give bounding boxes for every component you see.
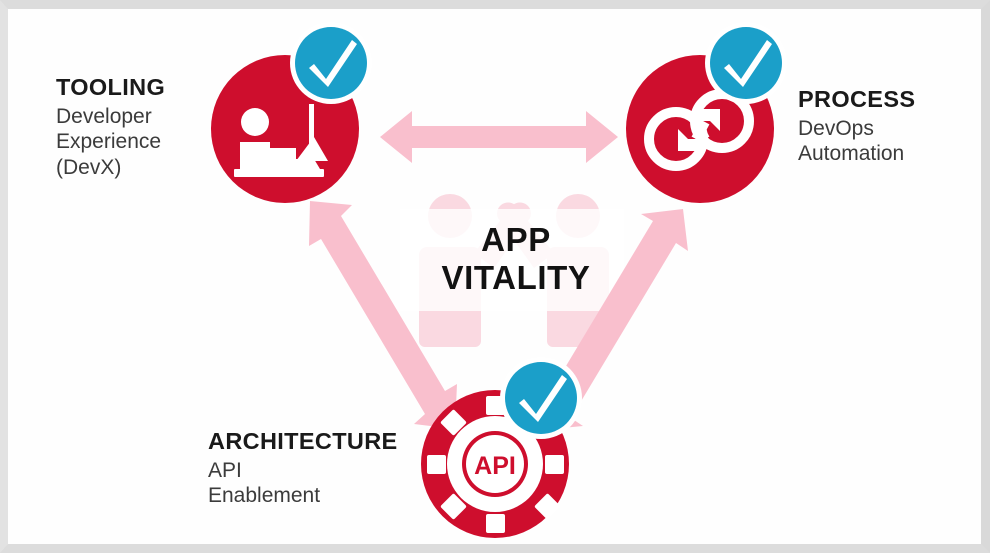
label-tooling-sub-2: Experience bbox=[56, 129, 165, 155]
node-tooling[interactable] bbox=[211, 22, 372, 203]
api-gear-label: API bbox=[474, 452, 516, 480]
watermark-two-people-icon bbox=[400, 194, 624, 347]
label-architecture-sub-2: Enablement bbox=[208, 483, 398, 509]
label-tooling: TOOLING Developer Experience (DevX) bbox=[56, 73, 165, 180]
label-tooling-sub-1: Developer bbox=[56, 104, 165, 130]
diagram-frame: API APP VITALITY TOOLING Developer Exper… bbox=[0, 0, 990, 553]
node-architecture-check-badge[interactable] bbox=[500, 357, 582, 439]
label-architecture-sub-1: API bbox=[208, 458, 398, 484]
node-tooling-check-badge[interactable] bbox=[290, 22, 372, 104]
label-tooling-sub-3: (DevX) bbox=[56, 155, 165, 181]
label-tooling-title: TOOLING bbox=[56, 73, 165, 102]
label-architecture-title: ARCHITECTURE bbox=[208, 427, 398, 456]
label-process-sub-2: Automation bbox=[798, 141, 915, 167]
node-process-check-badge[interactable] bbox=[705, 22, 787, 104]
label-process-sub-1: DevOps bbox=[798, 116, 915, 142]
label-process: PROCESS DevOps Automation bbox=[798, 85, 915, 167]
node-process[interactable] bbox=[626, 22, 787, 203]
connector-tooling-process bbox=[380, 111, 618, 163]
label-architecture: ARCHITECTURE API Enablement bbox=[208, 427, 398, 509]
diagram-canvas: API APP VITALITY TOOLING Developer Exper… bbox=[8, 9, 981, 544]
label-process-title: PROCESS bbox=[798, 85, 915, 114]
node-architecture[interactable]: API bbox=[421, 357, 582, 538]
